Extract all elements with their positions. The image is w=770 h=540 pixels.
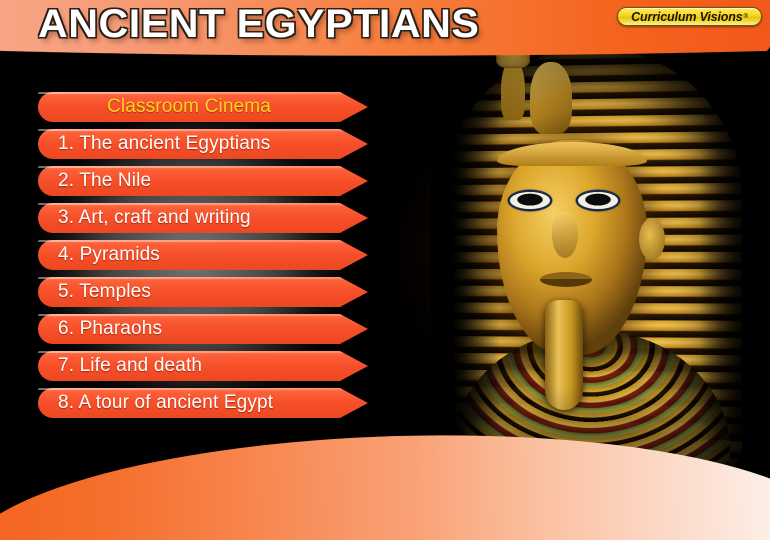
registered-mark-icon: ® (744, 14, 748, 20)
menu-item-label: 7. Life and death (38, 355, 202, 377)
menu-item-label: 6. Pharaohs (38, 318, 162, 340)
menu-item-classroom-cinema[interactable]: Classroom Cinema (38, 92, 368, 122)
page-title: ANCIENT EGYPTIANS (38, 2, 479, 47)
menu-item-6-pharaohs[interactable]: 6. Pharaohs (38, 314, 368, 344)
curriculum-visions-logo[interactable]: Curriculum Visions® (617, 7, 762, 26)
menu-item-8-a-tour-of-ancient-egypt[interactable]: 8. A tour of ancient Egypt (38, 388, 368, 418)
mask-left-eye (510, 192, 550, 209)
menu-item-3-art-craft-and-writing[interactable]: 3. Art, craft and writing (38, 203, 368, 233)
title-screen: ANCIENT EGYPTIANS Curriculum Visions® Cl… (0, 0, 770, 540)
mask-false-beard (545, 300, 583, 410)
mask-ear (639, 218, 665, 260)
menu-item-label: 8. A tour of ancient Egypt (38, 392, 273, 414)
menu-item-label: 2. The Nile (38, 170, 151, 192)
menu-item-2-the-nile[interactable]: 2. The Nile (38, 166, 368, 196)
menu-item-label: 5. Temples (38, 281, 151, 303)
chapter-menu: Classroom Cinema 1. The ancient Egyptian… (38, 92, 368, 425)
mask-mouth (540, 272, 592, 287)
menu-item-7-life-and-death[interactable]: 7. Life and death (38, 351, 368, 381)
menu-item-5-temples[interactable]: 5. Temples (38, 277, 368, 307)
mask-right-eye (578, 192, 618, 209)
mask-nose (552, 212, 578, 258)
menu-item-4-pyramids[interactable]: 4. Pyramids (38, 240, 368, 270)
menu-item-label: 3. Art, craft and writing (38, 207, 251, 229)
logo-label: Curriculum Visions (631, 10, 742, 24)
menu-item-label: Classroom Cinema (38, 96, 340, 118)
menu-item-label: 1. The ancient Egyptians (38, 133, 270, 155)
menu-item-1-the-ancient-egyptians[interactable]: 1. The ancient Egyptians (38, 129, 368, 159)
menu-item-label: 4. Pyramids (38, 244, 160, 266)
